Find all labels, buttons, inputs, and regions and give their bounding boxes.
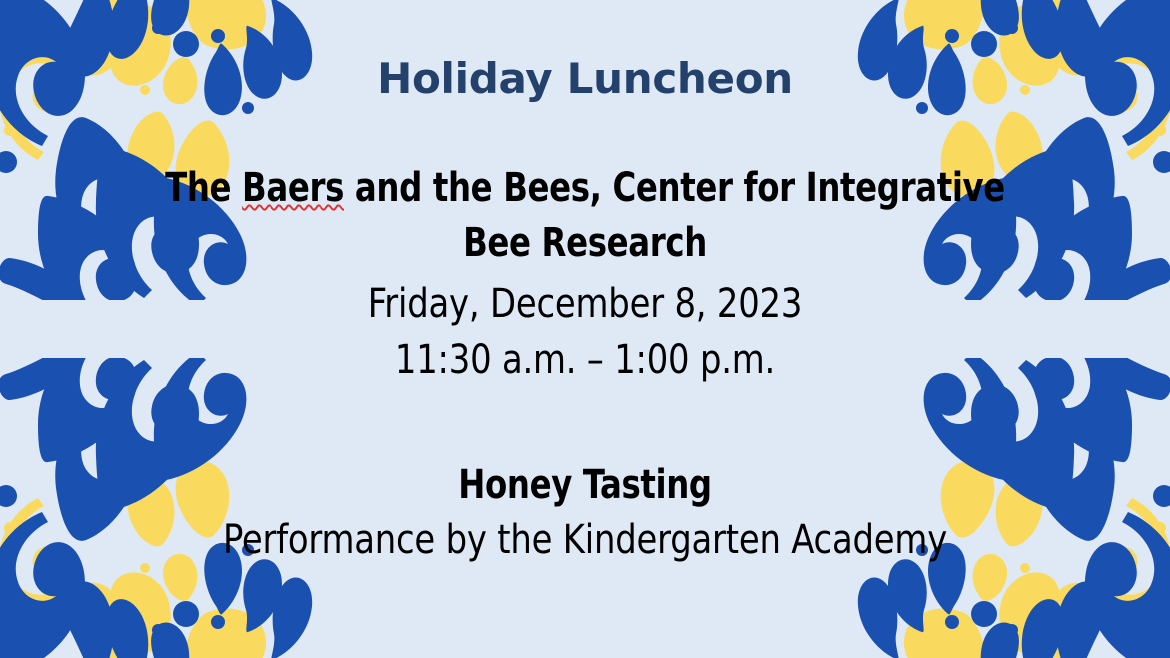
slide-text-content: Holiday Luncheon The Baers and the Bees,…	[0, 0, 1170, 658]
organization-name: The Baers and the Bees, Center for Integ…	[135, 161, 1035, 271]
program-activity: Honey Tasting	[135, 458, 1035, 513]
program-performance: Performance by the Kindergarten Academy	[115, 513, 1055, 568]
event-time: 11:30 a.m. – 1:00 p.m.	[115, 333, 1055, 388]
slide-canvas: Holiday Luncheon The Baers and the Bees,…	[0, 0, 1170, 658]
slide-title: Holiday Luncheon	[377, 57, 793, 101]
event-date: Friday, December 8, 2023	[115, 277, 1055, 332]
organization-line-1: The Baers and the Bees, Center for Integ…	[135, 161, 1035, 216]
organization-line-2: Bee Research	[135, 216, 1035, 271]
misspelled-word-baers[interactable]: Baers	[242, 165, 344, 211]
organization-prefix: The	[165, 165, 242, 211]
organization-suffix: and the Bees, Center for Integrative	[344, 165, 1005, 211]
